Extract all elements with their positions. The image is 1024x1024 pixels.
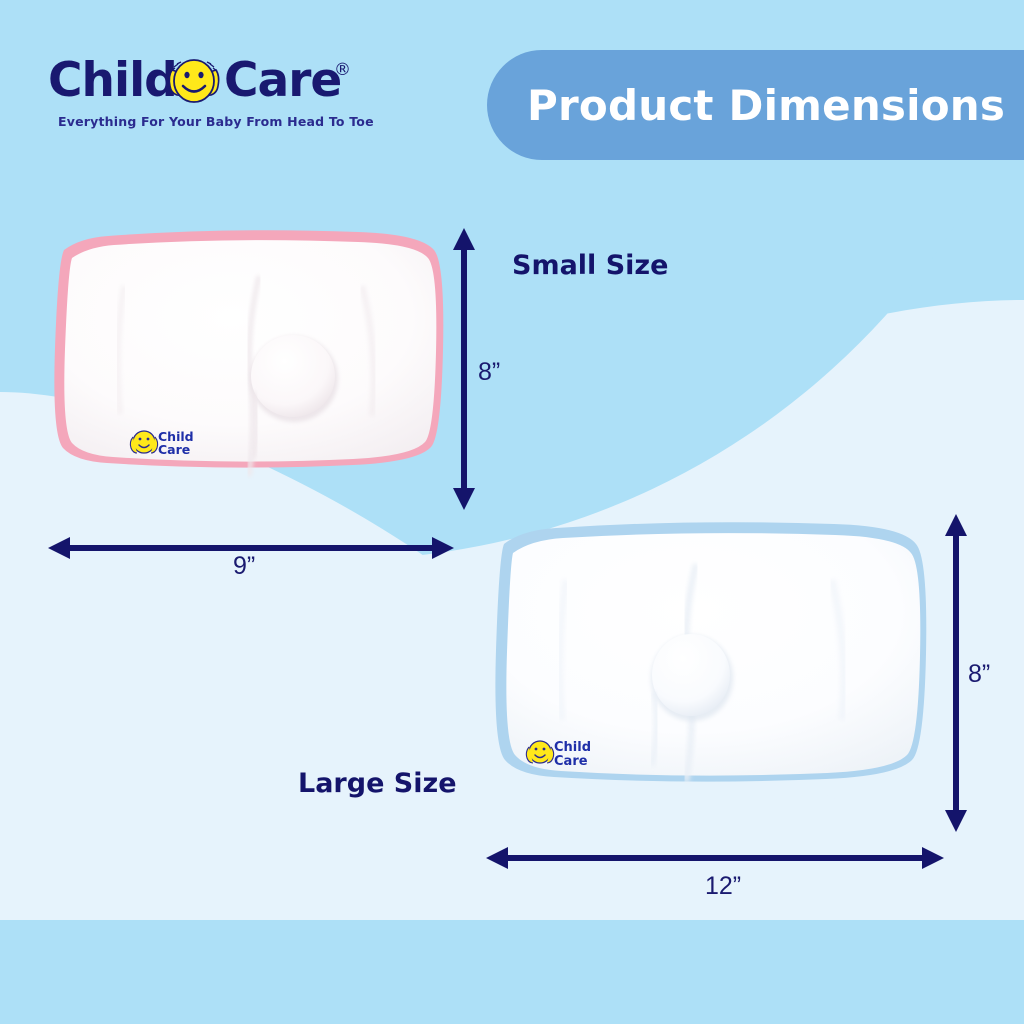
large-size-label: Large Size — [298, 768, 457, 799]
embroidered-logo-small: Child Care — [130, 429, 193, 457]
logo-tagline: Everything For Your Baby From Head To To… — [58, 114, 374, 129]
embroidery-line-two-small: Care — [158, 442, 190, 457]
large-width-arrow — [484, 840, 946, 876]
head-depression-large — [652, 634, 730, 716]
embroidery-line-two-large: Care — [554, 754, 588, 769]
product-image-small-pillow: Child Care — [44, 216, 454, 526]
embroidery-line-one-large: Child — [554, 740, 591, 755]
brand-logo: Child Care ® Everything For Your Baby Fr… — [48, 52, 358, 140]
header-banner: Product Dimensions — [487, 50, 1024, 160]
large-height-arrow — [938, 512, 974, 834]
registered-trademark-icon: ® — [334, 60, 351, 80]
small-size-label: Small Size — [512, 250, 668, 281]
product-image-large-pillow: Child Care — [482, 506, 938, 846]
large-width-value: 12” — [705, 872, 741, 901]
logo-wordmark: Child Care ® — [48, 52, 358, 110]
logo-word-child: Child — [48, 52, 177, 110]
smiley-face-icon — [166, 56, 222, 108]
page-title: Product Dimensions — [527, 81, 1005, 130]
head-depression-small — [251, 335, 335, 417]
small-height-arrow — [446, 226, 482, 512]
bottom-band — [0, 920, 1024, 1024]
small-width-arrow — [46, 530, 456, 566]
logo-word-care: Care — [224, 52, 341, 110]
